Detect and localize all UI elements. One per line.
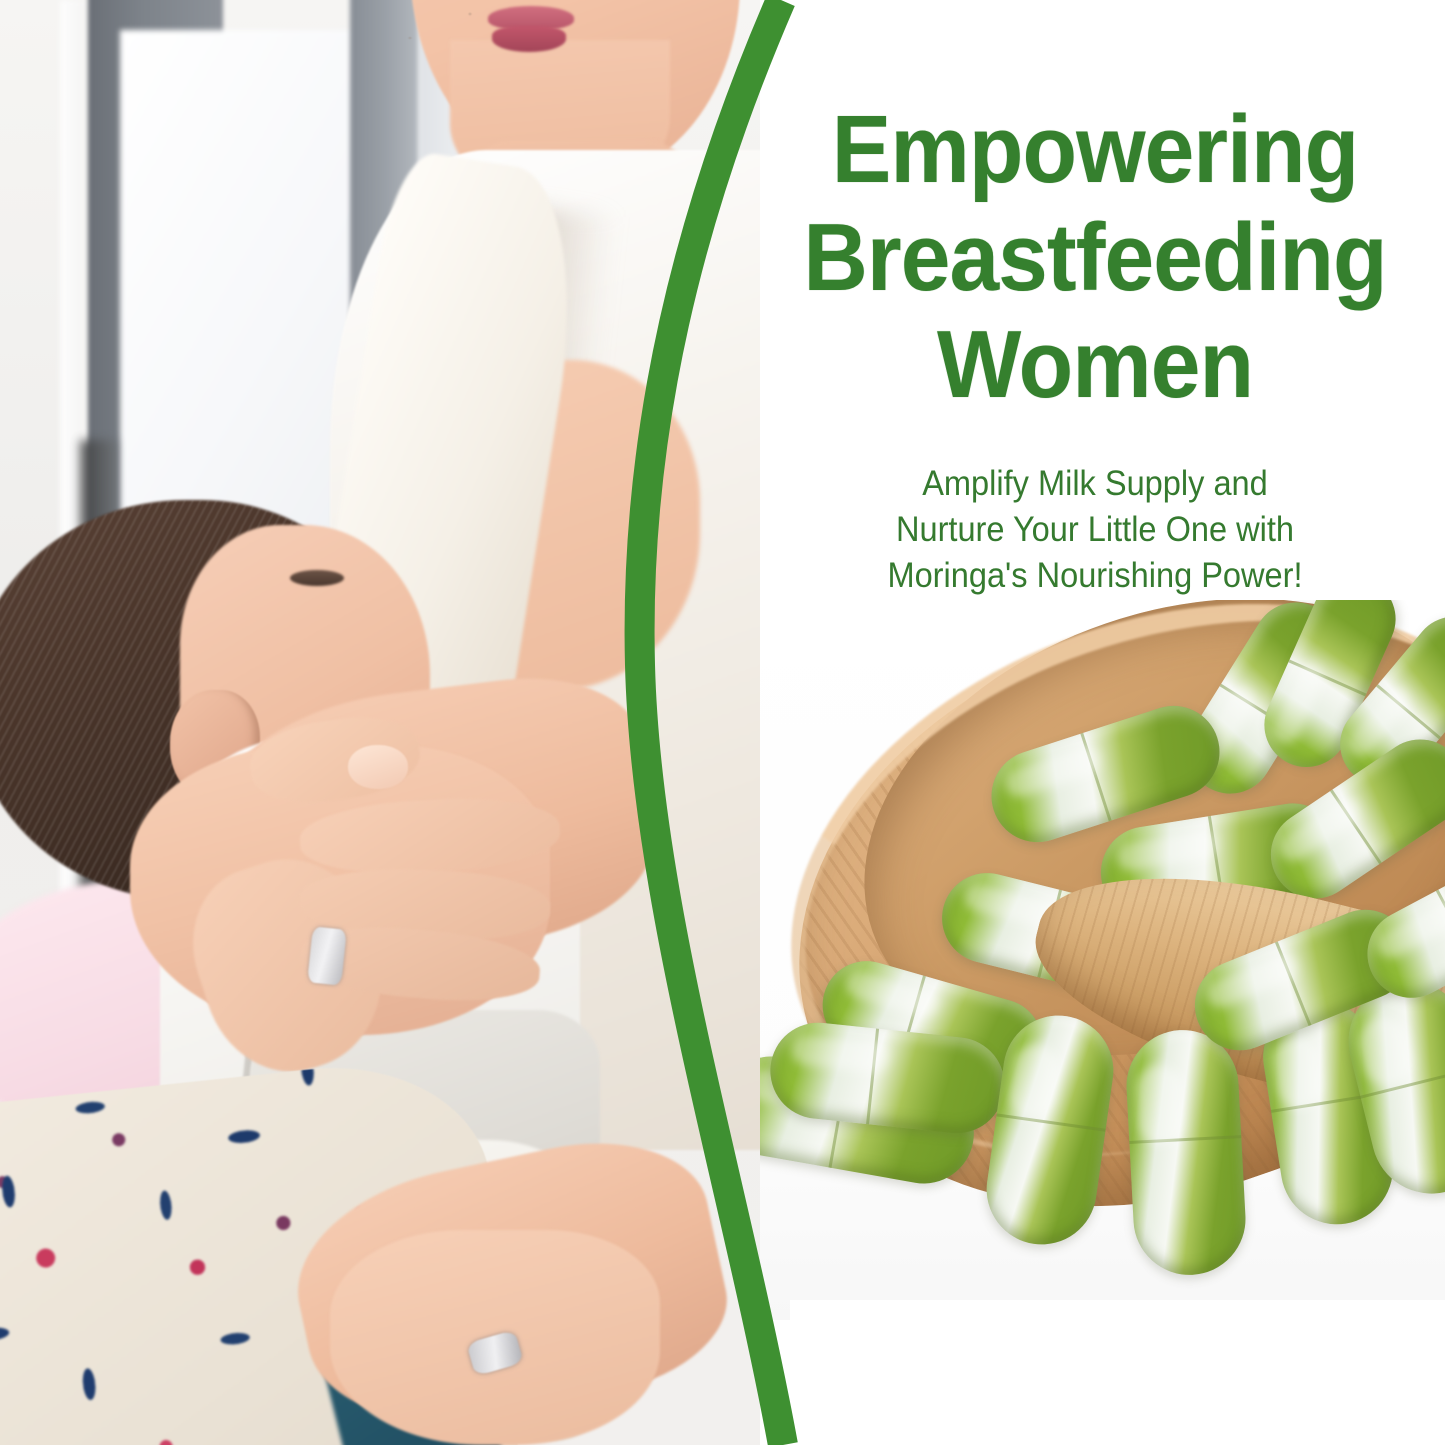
capsule-seam — [1360, 1067, 1445, 1099]
moringa-capsules-photo — [760, 600, 1445, 1320]
page-subtitle: Amplify Milk Supply and Nurture Your Lit… — [788, 461, 1402, 600]
mother-lower-lip — [492, 26, 566, 52]
headline-line-1: Empowering — [788, 96, 1402, 204]
headline-line-3: Women — [788, 311, 1402, 419]
capsule-seam — [1330, 789, 1382, 864]
moringa-capsule — [1124, 1027, 1249, 1278]
subhead-line-1: Amplify Milk Supply and — [788, 461, 1402, 507]
product-banner: Empowering Breastfeeding Women Amplify M… — [0, 0, 1445, 1445]
subhead-line-2: Nurture Your Little One with — [788, 507, 1402, 553]
capsule-seam — [1435, 890, 1445, 969]
capsule-seam — [1376, 684, 1441, 739]
fingernail — [348, 745, 408, 789]
capsule-seam — [1080, 733, 1111, 821]
headline-line-2: Breastfeeding — [788, 204, 1402, 312]
capsule-seam — [1275, 941, 1311, 1026]
breastfeeding-photo — [0, 0, 800, 1445]
subhead-line-3: Moringa's Nourishing Power! — [788, 553, 1402, 599]
baby-eye — [290, 570, 344, 586]
capsule-seam — [866, 1029, 879, 1125]
capsule-seam — [1129, 1135, 1241, 1144]
wedding-ring — [307, 926, 347, 985]
capsule-seam — [1288, 659, 1366, 696]
page-title: Empowering Breastfeeding Women — [788, 96, 1402, 419]
photo-bottom-fade — [790, 1300, 1445, 1445]
capsule-seam — [996, 1113, 1105, 1131]
headline-block: Empowering Breastfeeding Women Amplify M… — [765, 96, 1425, 599]
